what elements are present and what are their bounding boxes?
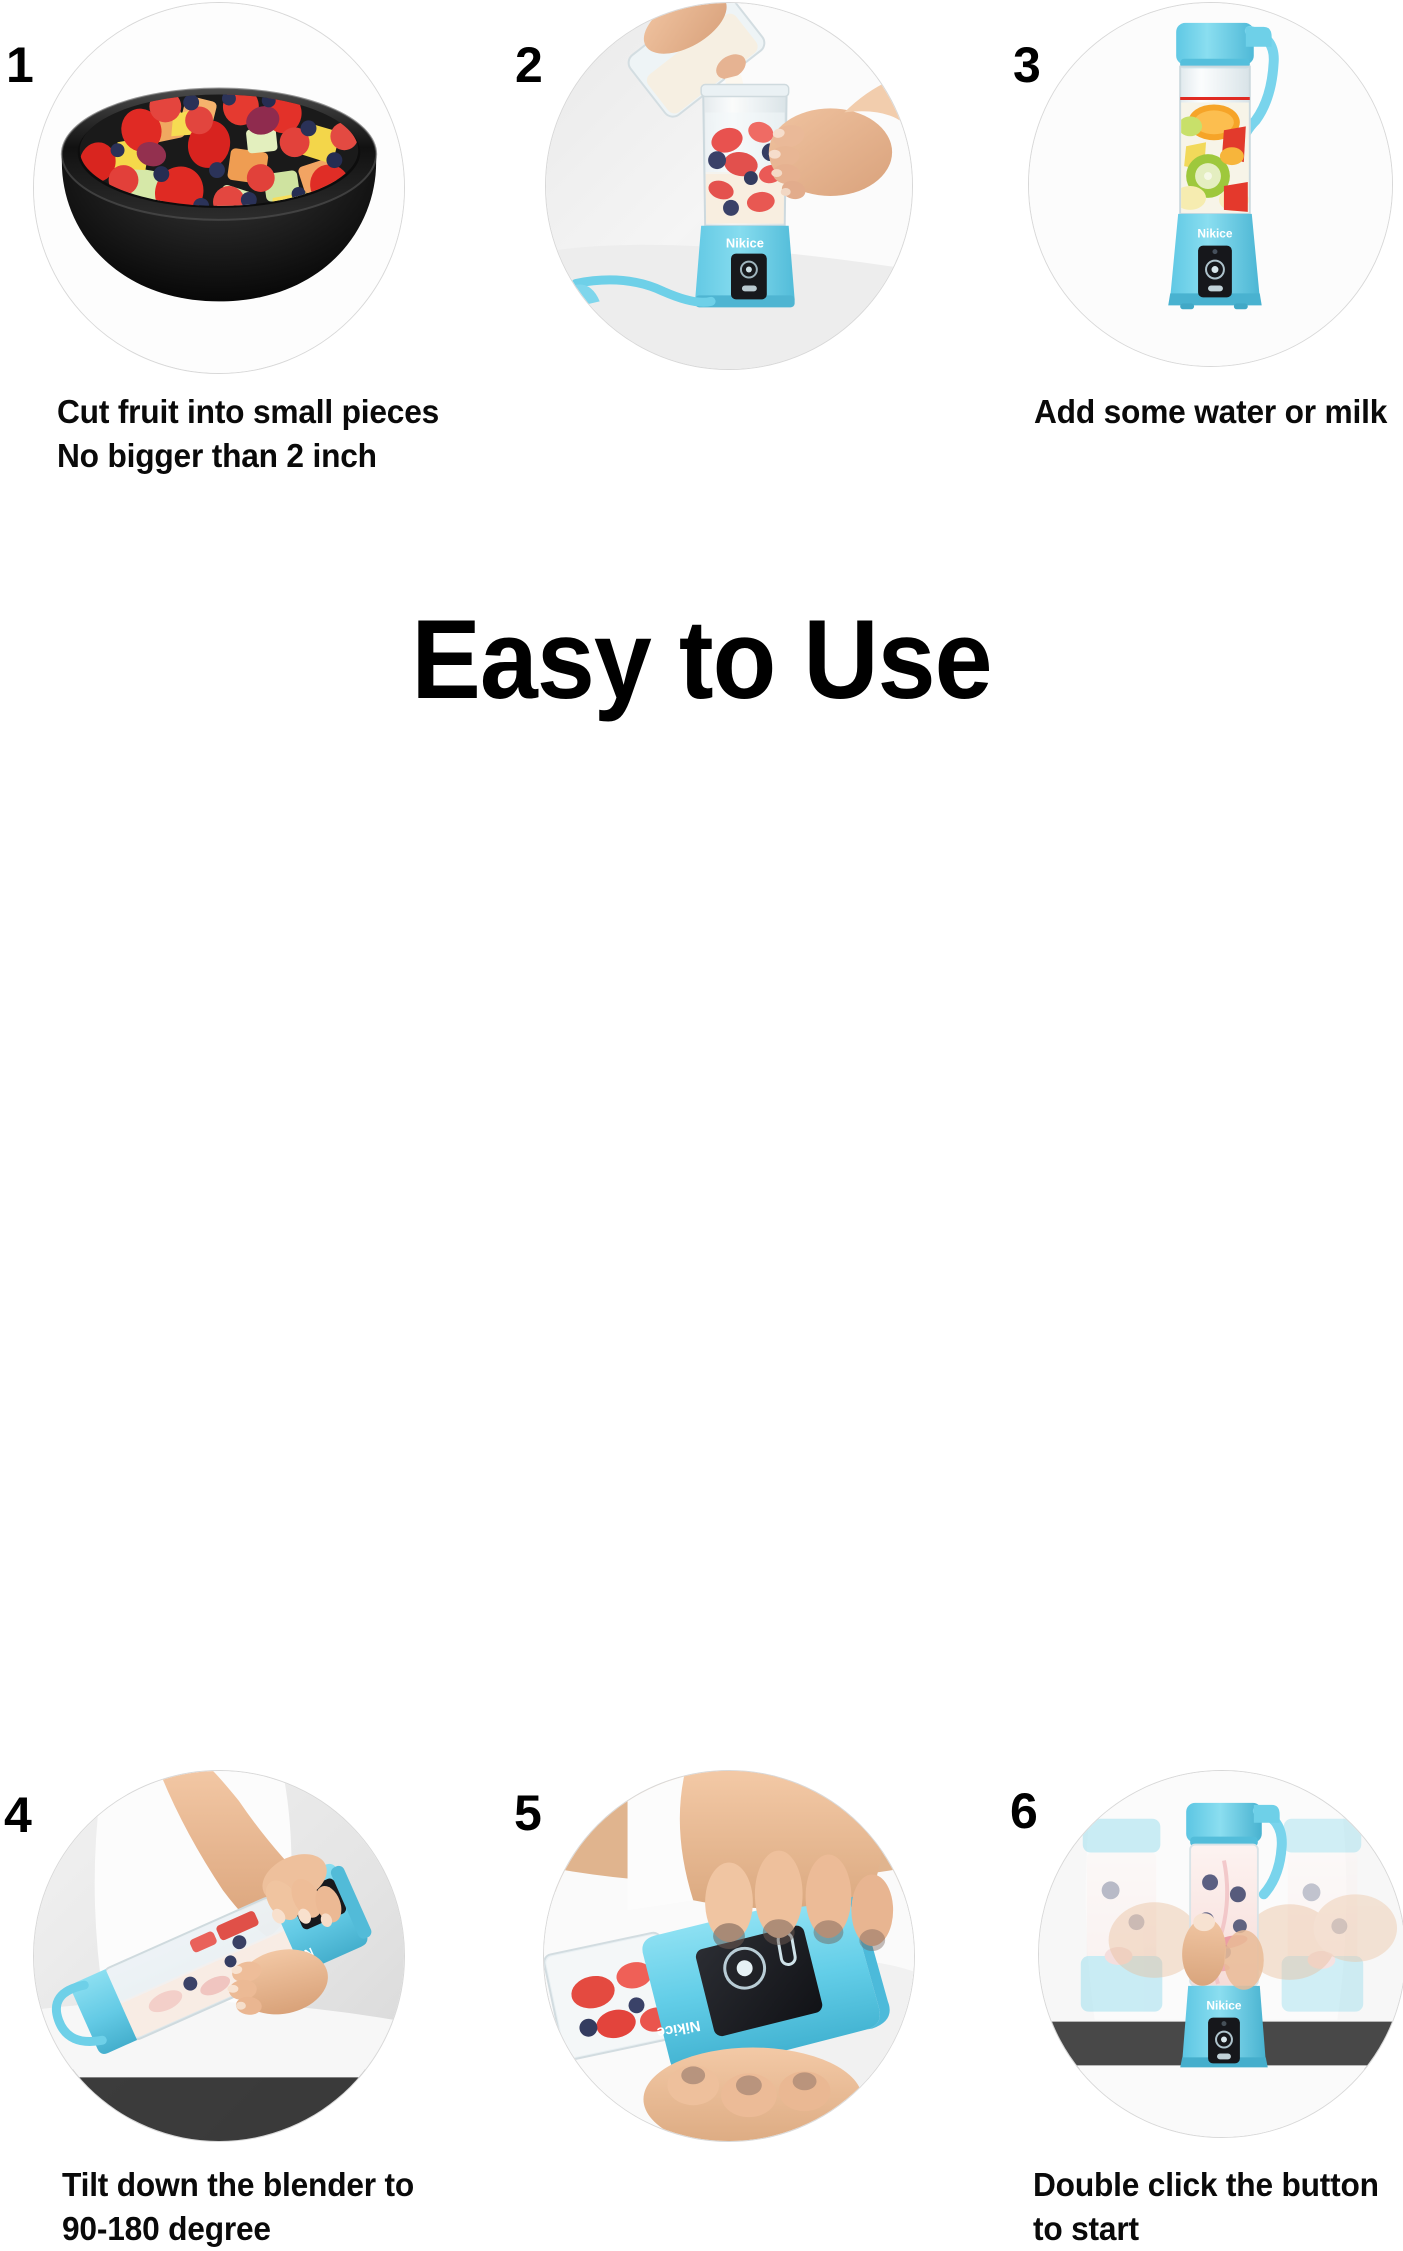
blender-bottle-illustration: Nikice: [1029, 3, 1392, 366]
step-number-5: 5: [514, 1788, 541, 1838]
step-number-2: 2: [515, 40, 542, 90]
page-title: Easy to Use: [49, 604, 1354, 716]
step-image-2: Nikice: [545, 2, 913, 370]
step-caption-1: Cut fruit into small pieces No bigger th…: [57, 390, 460, 478]
step-image-5: Nikice: [543, 1770, 915, 2142]
step-image-1: [33, 2, 405, 374]
step-panel-4: 4: [0, 880, 470, 1384]
svg-text:Nikice: Nikice: [1197, 227, 1232, 241]
step-image-4: Nikice: [33, 1770, 405, 2142]
step-caption-4: Tilt down the blender to 90-180 degree: [62, 2163, 465, 2251]
step-panel-2: 2: [490, 0, 960, 490]
step-caption-5: Double click the button to start: [1033, 2163, 1403, 2251]
step-panel-3: 3: [990, 0, 1403, 490]
step-panel-6: 6: [980, 880, 1403, 1384]
step-panel-5: 5: [490, 880, 960, 1384]
shake-blender-illustration: Nikice: [1039, 1771, 1403, 2137]
tilt-blender-illustration: Nikice: [34, 1771, 404, 2141]
double-click-button-illustration: Nikice: [544, 1771, 914, 2141]
pouring-milk-illustration: Nikice: [546, 3, 912, 369]
step-number-6: 6: [1010, 1786, 1037, 1836]
fruit-bowl-illustration: [34, 3, 404, 373]
step-number-3: 3: [1013, 40, 1040, 90]
step-panel-1: 1: [0, 0, 470, 490]
step-number-4: 4: [4, 1790, 31, 1840]
step-image-6: Nikice: [1038, 1770, 1403, 2138]
step-image-3: Nikice: [1028, 2, 1393, 367]
svg-text:Nikice: Nikice: [726, 236, 764, 251]
step-number-1: 1: [6, 40, 33, 90]
svg-text:Nikice: Nikice: [1206, 1999, 1241, 2013]
